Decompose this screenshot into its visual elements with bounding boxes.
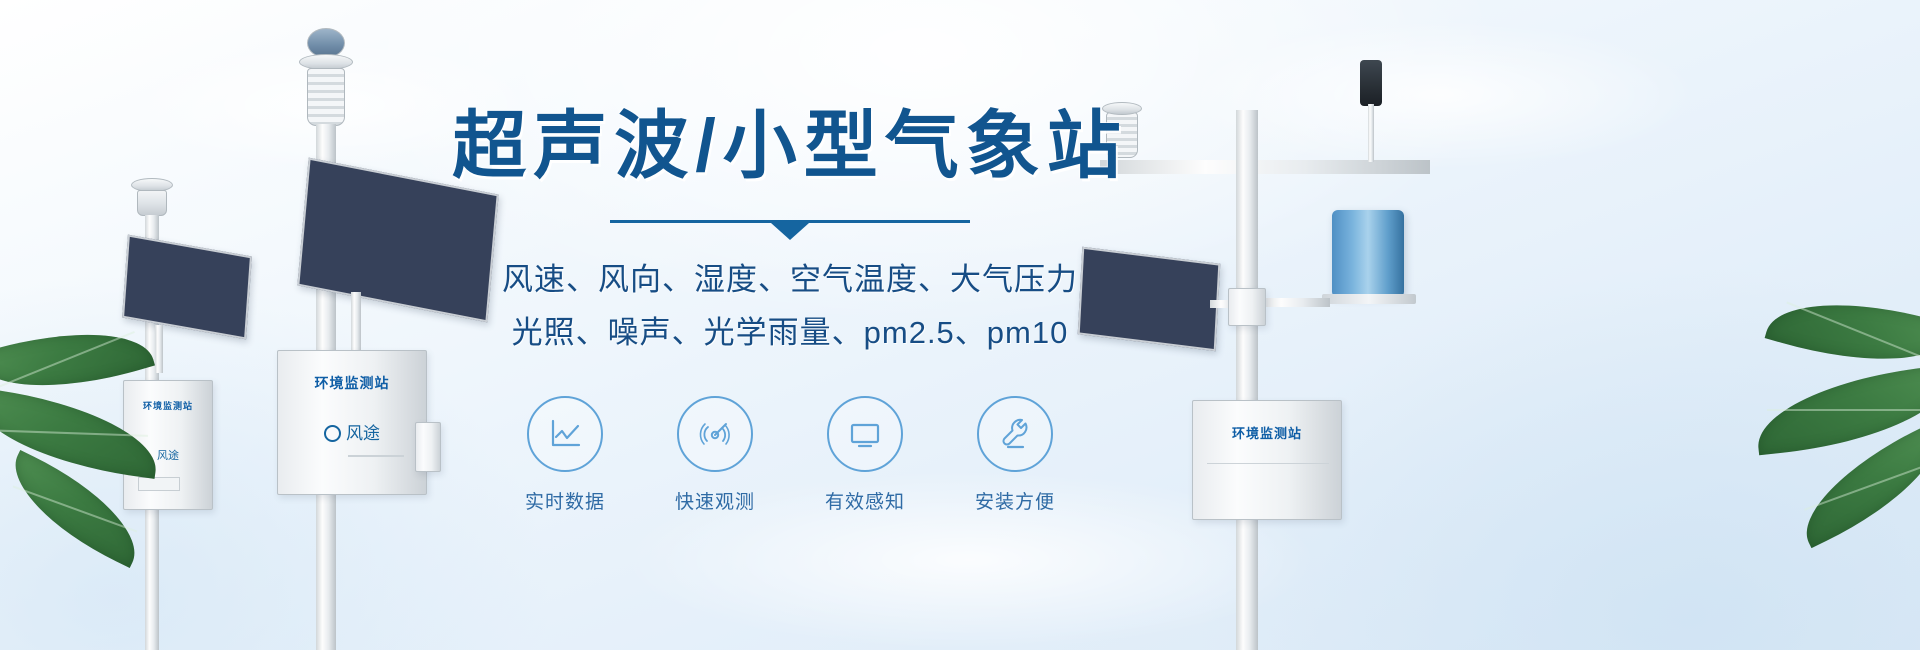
down-triangle-icon (771, 223, 809, 240)
subtitle-line-2: 光照、噪声、光学雨量、pm2.5、pm10 (440, 306, 1140, 359)
station-cabinet: 环境监测站 风途 (277, 350, 427, 495)
rain-gauge-icon (1332, 210, 1404, 296)
radiation-shield-icon (307, 68, 345, 126)
cabinet-panel-seam (1207, 463, 1329, 464)
page-title: 超声波/小型气象站 (440, 105, 1140, 188)
radiation-shield-icon (137, 190, 167, 216)
panel-mount-bar (351, 292, 361, 358)
feature-icon-circle (527, 396, 603, 472)
station-cabinet: 环境监测站 (1192, 400, 1342, 520)
feature-icon-circle (977, 396, 1053, 472)
cabinet-vent (138, 477, 180, 491)
feature-item-realtime-data[interactable]: 实时数据 (511, 396, 619, 514)
cabinet-label: 环境监测站 (124, 399, 212, 412)
brand-text: 风途 (346, 424, 380, 443)
feature-item-fast-observation[interactable]: 快速观测 (661, 396, 769, 514)
feature-list: 实时数据 快速观测 (440, 396, 1140, 514)
junction-box (415, 422, 441, 472)
mast-pole (1236, 110, 1258, 650)
brand-label: 风途 (278, 419, 426, 444)
left-weather-station: 环境监测站 风途 (95, 175, 275, 650)
radar-target-icon (695, 414, 735, 454)
camera-mount (1368, 104, 1374, 162)
line-chart-icon (545, 414, 585, 454)
cabinet-label: 环境监测站 (278, 373, 426, 393)
feature-icon-circle (827, 396, 903, 472)
feature-label: 安装方便 (961, 487, 1069, 514)
feature-icon-circle (677, 396, 753, 472)
mast-collar (1228, 288, 1266, 326)
cross-arm (1100, 160, 1430, 174)
subtitle-group: 风速、风向、湿度、空气温度、大气压力 光照、噪声、光学雨量、pm2.5、pm10 (440, 253, 1140, 360)
camera-sensor-icon (1360, 60, 1382, 106)
banner-text-block: 超声波/小型气象站 风速、风向、湿度、空气温度、大气压力 光照、噪声、光学雨量、… (440, 105, 1140, 514)
fengtu-logo-icon (324, 425, 341, 442)
feature-item-effective-sensing[interactable]: 有效感知 (811, 396, 919, 514)
title-divider (610, 220, 970, 223)
monitor-icon (845, 414, 885, 454)
wrench-icon (995, 414, 1035, 454)
rain-gauge-base (1322, 294, 1416, 304)
rain-gauge-arm (1258, 298, 1330, 307)
weather-station-banner: 环境监测站 风途 环境监测站 风途 (0, 0, 1920, 650)
panel-mount-bar (155, 325, 163, 373)
feature-label: 快速观测 (661, 487, 769, 514)
feature-label: 实时数据 (511, 487, 619, 514)
subtitle-line-1: 风速、风向、湿度、空气温度、大气压力 (440, 253, 1140, 306)
solar-panel (122, 235, 252, 340)
cabinet-door-seam (348, 455, 404, 457)
feature-label: 有效感知 (811, 487, 919, 514)
feature-item-easy-installation[interactable]: 安装方便 (961, 396, 1069, 514)
cabinet-label: 环境监测站 (1193, 423, 1341, 442)
